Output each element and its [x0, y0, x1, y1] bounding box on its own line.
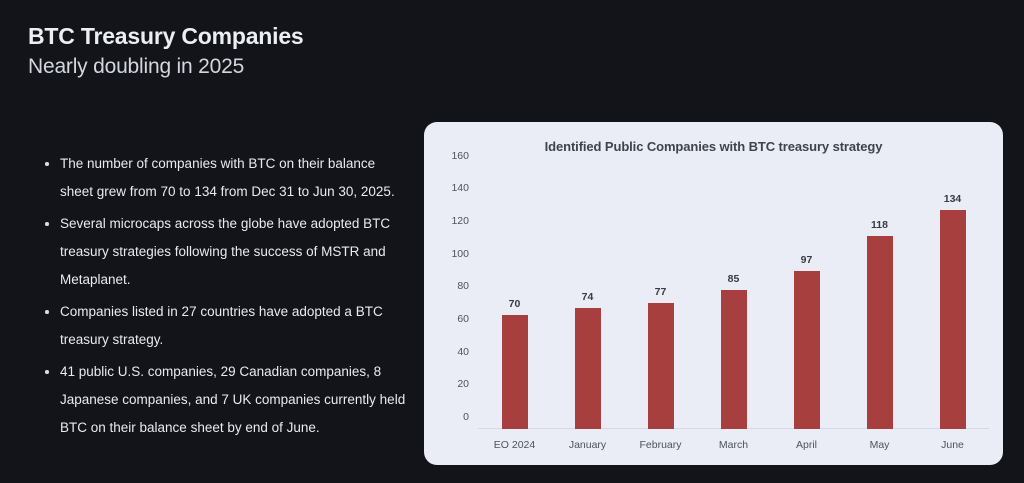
list-item-text: 41 public U.S. companies, 29 Canadian co…	[60, 364, 405, 435]
x-axis-tick-label: June	[941, 439, 964, 451]
y-axis-tick-label: 100	[451, 248, 469, 260]
bar-value-label: 118	[871, 219, 888, 231]
y-axis-tick-label: 80	[457, 280, 469, 292]
y-axis-tick-label: 40	[457, 346, 469, 358]
list-item: Several microcaps across the globe have …	[44, 210, 410, 294]
list-item-text: Several microcaps across the globe have …	[60, 216, 390, 287]
bar[interactable]	[940, 210, 966, 429]
bar-value-label: 85	[728, 273, 740, 285]
x-axis-tick-label: March	[719, 439, 748, 451]
bar-group: 85March	[697, 158, 770, 429]
bar[interactable]	[502, 315, 528, 429]
bar[interactable]	[867, 236, 893, 429]
y-axis-tick-label: 120	[451, 215, 469, 227]
bullet-dot-icon	[45, 222, 49, 226]
header: BTC Treasury Companies Nearly doubling i…	[28, 22, 448, 80]
bar-chart-plot-area: 02040608010012014016070EO 202474January7…	[478, 158, 989, 429]
bar-value-label: 70	[509, 298, 521, 310]
y-axis-tick-label: 20	[457, 378, 469, 390]
list-item-text: The number of companies with BTC on thei…	[60, 156, 395, 199]
bar[interactable]	[648, 303, 674, 429]
bar[interactable]	[794, 271, 820, 429]
bar-group: 97April	[770, 158, 843, 429]
page-title: BTC Treasury Companies	[28, 22, 448, 51]
key-points-list: The number of companies with BTC on thei…	[44, 150, 410, 446]
list-item: The number of companies with BTC on thei…	[44, 150, 410, 206]
x-axis-tick-label: May	[870, 439, 890, 451]
list-item-text: Companies listed in 27 countries have ad…	[60, 304, 383, 347]
bar[interactable]	[575, 308, 601, 429]
chart-card: Identified Public Companies with BTC tre…	[424, 122, 1003, 465]
bullet-dot-icon	[45, 162, 49, 166]
list-item: 41 public U.S. companies, 29 Canadian co…	[44, 358, 410, 442]
x-axis-tick-label: April	[796, 439, 817, 451]
chart-title: Identified Public Companies with BTC tre…	[424, 139, 1003, 154]
y-axis-tick-label: 160	[451, 150, 469, 162]
x-axis-tick-label: EO 2024	[494, 439, 535, 451]
bar-value-label: 97	[801, 254, 813, 266]
bar-group: 70EO 2024	[478, 158, 551, 429]
bar-group: 74January	[551, 158, 624, 429]
bullet-dot-icon	[45, 310, 49, 314]
x-axis-tick-label: February	[639, 439, 681, 451]
x-axis-tick-label: January	[569, 439, 606, 451]
bar-value-label: 77	[655, 286, 667, 298]
bar[interactable]	[721, 290, 747, 429]
page-subtitle: Nearly doubling in 2025	[28, 53, 448, 80]
list-item: Companies listed in 27 countries have ad…	[44, 298, 410, 354]
y-axis-tick-label: 0	[463, 411, 469, 423]
y-axis-tick-label: 60	[457, 313, 469, 325]
y-axis-tick-label: 140	[451, 182, 469, 194]
bar-group: 134June	[916, 158, 989, 429]
bar-value-label: 134	[944, 193, 962, 205]
bullet-dot-icon	[45, 370, 49, 374]
bar-group: 77February	[624, 158, 697, 429]
bar-value-label: 74	[582, 291, 594, 303]
bar-group: 118May	[843, 158, 916, 429]
